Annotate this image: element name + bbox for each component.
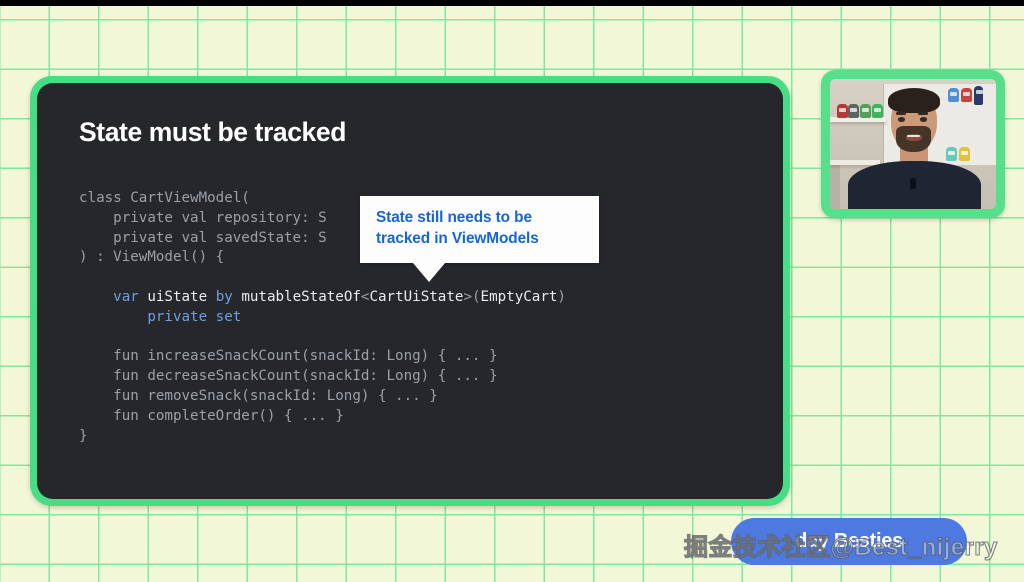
code-token xyxy=(79,309,147,325)
callout-bubble: State still needs to be tracked in ViewM… xyxy=(360,196,599,263)
webcam-video-feed xyxy=(830,79,996,209)
sticker-icon xyxy=(959,147,970,161)
lapel-microphone-icon xyxy=(910,178,916,189)
sticker-icon xyxy=(946,147,957,161)
sticker-icon xyxy=(948,88,959,102)
code-line: fun decreaseSnackCount(snackId: Long) { … xyxy=(79,367,566,387)
presenter-eyebrow-right xyxy=(918,112,928,115)
android-figurine-icon xyxy=(860,104,871,118)
slide-card: State must be tracked class CartViewMode… xyxy=(30,76,790,506)
code-token: private val repository: S xyxy=(79,210,327,226)
android-figurine-icon xyxy=(848,104,859,118)
android-figurine-icon xyxy=(837,104,848,118)
code-token: ) xyxy=(557,289,566,305)
code-token: } xyxy=(79,428,88,444)
code-token: private set xyxy=(147,309,241,325)
code-token: by xyxy=(216,289,233,305)
code-token: CartUiState xyxy=(369,289,463,305)
code-blank-line xyxy=(79,268,566,288)
code-token: uiState xyxy=(147,289,207,305)
code-token: >( xyxy=(463,289,480,305)
code-line: var uiState by mutableStateOf<CartUiStat… xyxy=(79,288,566,308)
code-token: private val savedState: S xyxy=(79,230,327,246)
presenter-eyebrow-left xyxy=(896,112,906,115)
page-title: State must be tracked xyxy=(79,117,346,148)
code-line: fun removeSnack(snackId: Long) { ... } xyxy=(79,387,566,407)
code-line: fun completeOrder() { ... } xyxy=(79,407,566,427)
code-token xyxy=(79,289,113,305)
site-watermark: 掘金技术社区@Best_nijerry xyxy=(684,527,998,562)
code-token xyxy=(207,289,216,305)
code-token: fun increaseSnackCount(snackId: Long) { … xyxy=(79,348,498,364)
code-line: } xyxy=(79,427,566,447)
presenter-eye-right xyxy=(920,117,927,121)
doorframe xyxy=(830,161,840,209)
presenter-eye-left xyxy=(898,117,905,121)
shelf-lower xyxy=(830,160,880,165)
webcam-pip[interactable] xyxy=(821,70,1005,218)
slide-card-inner: State must be tracked class CartViewMode… xyxy=(37,83,783,499)
android-figurine-icon xyxy=(872,104,883,118)
code-token: class CartViewModel( xyxy=(79,190,250,206)
code-line: private set xyxy=(79,308,566,328)
code-line: fun increaseSnackCount(snackId: Long) { … xyxy=(79,347,566,367)
top-letterbox-bar xyxy=(0,0,1024,6)
code-token: ) : ViewModel() { xyxy=(79,249,224,265)
callout-tail-icon xyxy=(413,263,445,282)
sticker-icon xyxy=(961,88,972,102)
code-token: fun decreaseSnackCount(snackId: Long) { … xyxy=(79,368,498,384)
sticker-icon xyxy=(974,86,983,105)
code-token: fun removeSnack(snackId: Long) { ... } xyxy=(79,388,438,404)
callout-text: State still needs to be tracked in ViewM… xyxy=(376,208,583,249)
presenter-hair xyxy=(888,88,939,113)
code-token: mutableStateOf xyxy=(241,289,361,305)
screen-root: State must be tracked class CartViewMode… xyxy=(0,0,1024,582)
code-blank-line xyxy=(79,328,566,348)
code-token: var xyxy=(113,289,139,305)
code-token: fun completeOrder() { ... } xyxy=(79,408,344,424)
code-token: EmptyCart xyxy=(481,289,558,305)
